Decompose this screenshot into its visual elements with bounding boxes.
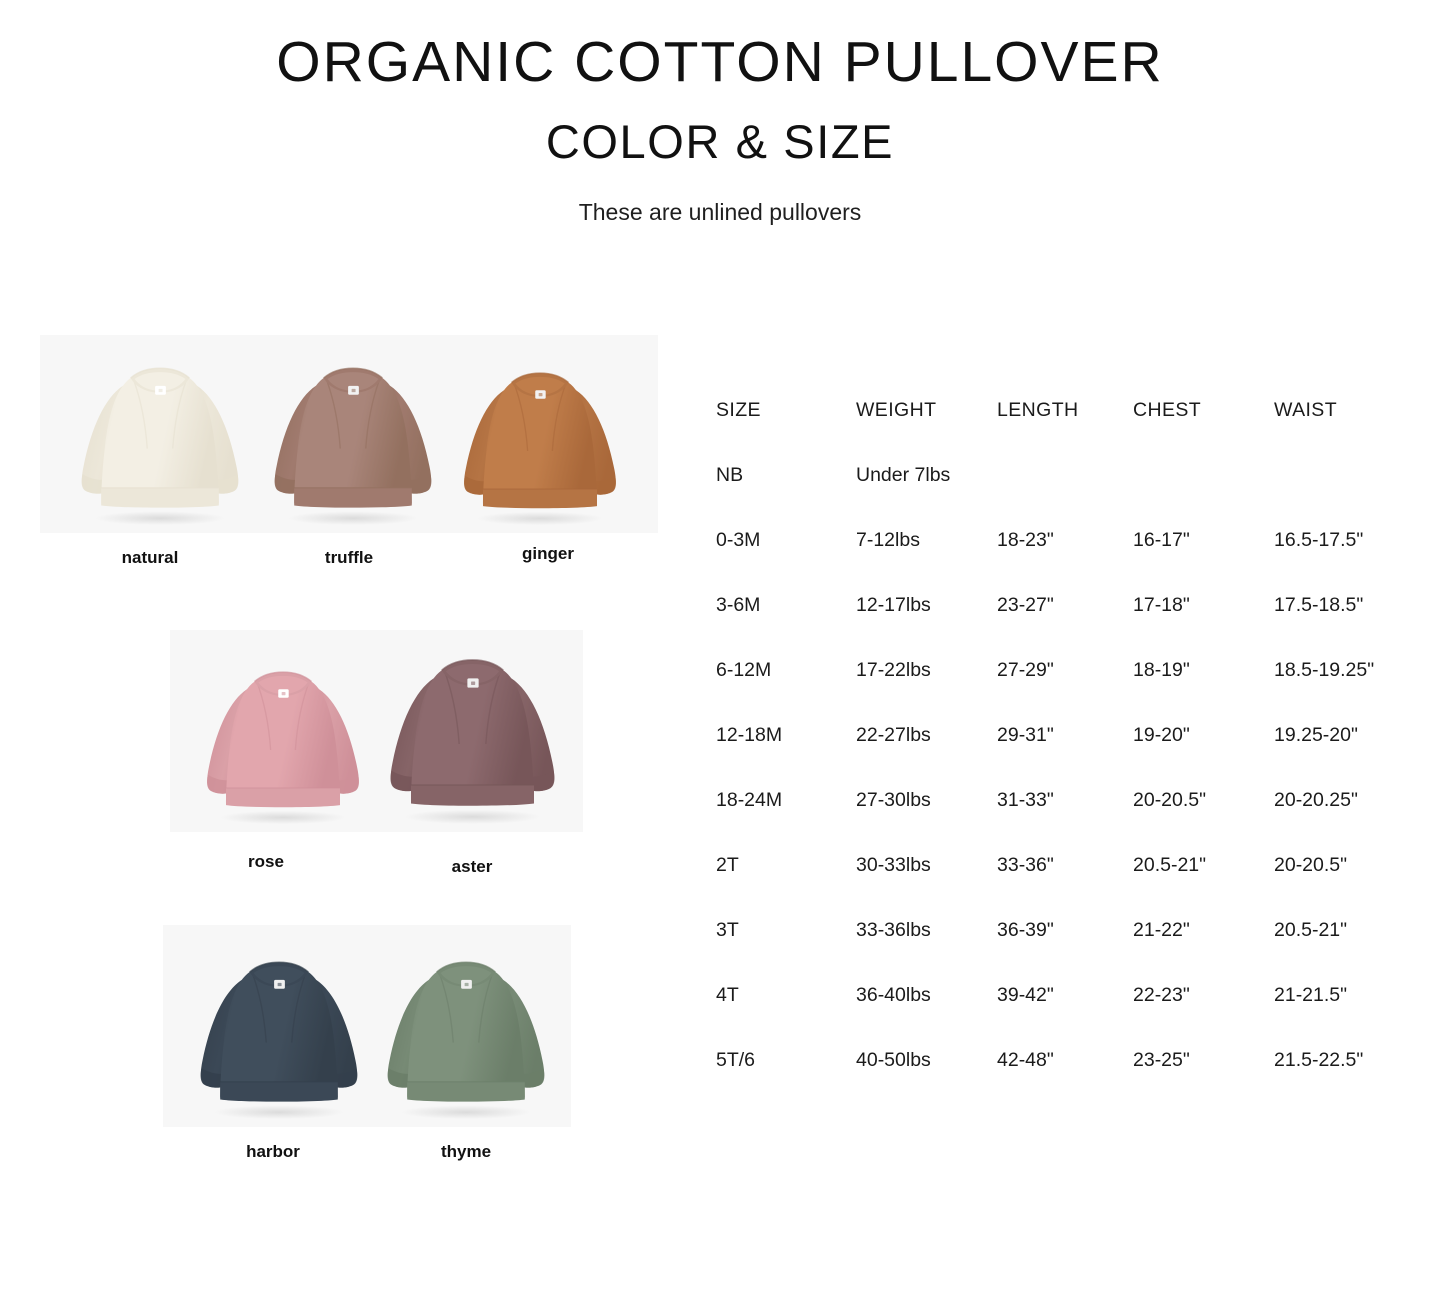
cell-chest: 16-17"	[1133, 508, 1274, 573]
table-row: NBUnder 7lbs	[716, 443, 1416, 508]
color-label-aster: aster	[384, 858, 560, 875]
sweater-illustration-natural	[62, 329, 258, 527]
cell-length: 23-27"	[997, 573, 1133, 638]
cell-length: 18-23"	[997, 508, 1133, 573]
cell-waist: 21-21.5"	[1274, 963, 1416, 1028]
cell-length: 31-33"	[997, 768, 1133, 833]
table-row: 0-3M7-12lbs18-23"16-17"16.5-17.5"	[716, 508, 1416, 573]
cell-chest: 19-20"	[1133, 703, 1274, 768]
cell-weight: 36-40lbs	[856, 963, 997, 1028]
garment-slot-natural[interactable]	[62, 329, 258, 527]
color-label-rose: rose	[178, 853, 354, 870]
garment-slot-rose[interactable]	[188, 624, 378, 826]
table-row: 18-24M27-30lbs31-33"20-20.5"20-20.25"	[716, 768, 1416, 833]
color-label-ginger: ginger	[460, 545, 636, 562]
cell-waist: 17.5-18.5"	[1274, 573, 1416, 638]
garment-slot-truffle[interactable]	[255, 329, 451, 527]
cell-chest: 21-22"	[1133, 898, 1274, 963]
cell-waist: 16.5-17.5"	[1274, 508, 1416, 573]
cell-length: 39-42"	[997, 963, 1133, 1028]
cell-chest: 22-23"	[1133, 963, 1274, 1028]
sweater-illustration-ginger	[445, 329, 635, 527]
cell-chest: 17-18"	[1133, 573, 1274, 638]
cell-weight: 12-17lbs	[856, 573, 997, 638]
cell-length: 36-39"	[997, 898, 1133, 963]
cell-chest: 23-25"	[1133, 1028, 1274, 1093]
table-row: 12-18M22-27lbs29-31"19-20"19.25-20"	[716, 703, 1416, 768]
cell-size: 3T	[716, 898, 856, 963]
column-header-weight: WEIGHT	[856, 378, 997, 443]
cell-weight: 7-12lbs	[856, 508, 997, 573]
cell-weight: 22-27lbs	[856, 703, 997, 768]
color-gallery: natural truffle ginger	[0, 0, 720, 1300]
cell-weight: 40-50lbs	[856, 1028, 997, 1093]
cell-chest: 18-19"	[1133, 638, 1274, 703]
column-header-length: LENGTH	[997, 378, 1133, 443]
sweater-illustration-harbor	[181, 919, 377, 1121]
garment-slot-harbor[interactable]	[181, 919, 377, 1121]
color-photo-panel-row-2	[170, 630, 583, 832]
cell-waist: 20-20.5"	[1274, 833, 1416, 898]
color-photo-panel-row-1	[40, 335, 658, 533]
cell-length: 33-36"	[997, 833, 1133, 898]
column-header-chest: CHEST	[1133, 378, 1274, 443]
sweater-illustration-thyme	[368, 919, 564, 1121]
cell-size: 18-24M	[716, 768, 856, 833]
cell-chest: 20.5-21"	[1133, 833, 1274, 898]
sweater-illustration-truffle	[255, 329, 451, 527]
cell-waist: 20-20.25"	[1274, 768, 1416, 833]
table-row: 5T/640-50lbs42-48"23-25"21.5-22.5"	[716, 1028, 1416, 1093]
sweater-illustration-rose	[188, 624, 378, 826]
color-label-harbor: harbor	[185, 1143, 361, 1160]
garment-slot-ginger[interactable]	[445, 329, 635, 527]
cell-size: NB	[716, 443, 856, 508]
sweater-illustration-aster	[370, 624, 575, 826]
color-label-natural: natural	[62, 549, 238, 566]
cell-waist: 20.5-21"	[1274, 898, 1416, 963]
cell-chest: 20-20.5"	[1133, 768, 1274, 833]
cell-size: 6-12M	[716, 638, 856, 703]
size-chart-body: NBUnder 7lbs0-3M7-12lbs18-23"16-17"16.5-…	[716, 443, 1416, 1093]
cell-length	[997, 443, 1133, 508]
cell-size: 2T	[716, 833, 856, 898]
cell-chest	[1133, 443, 1274, 508]
color-label-thyme: thyme	[378, 1143, 554, 1160]
cell-waist: 19.25-20"	[1274, 703, 1416, 768]
cell-weight: 27-30lbs	[856, 768, 997, 833]
table-row: 4T36-40lbs39-42"22-23"21-21.5"	[716, 963, 1416, 1028]
color-photo-panel-row-3	[163, 925, 571, 1127]
cell-size: 12-18M	[716, 703, 856, 768]
cell-weight: 17-22lbs	[856, 638, 997, 703]
cell-waist	[1274, 443, 1416, 508]
size-chart: SIZE WEIGHT LENGTH CHEST WAIST NBUnder 7…	[716, 378, 1416, 1093]
cell-weight: 30-33lbs	[856, 833, 997, 898]
cell-length: 27-29"	[997, 638, 1133, 703]
cell-size: 3-6M	[716, 573, 856, 638]
cell-size: 0-3M	[716, 508, 856, 573]
table-row: 3T33-36lbs36-39"21-22"20.5-21"	[716, 898, 1416, 963]
cell-length: 29-31"	[997, 703, 1133, 768]
cell-waist: 18.5-19.25"	[1274, 638, 1416, 703]
cell-weight: Under 7lbs	[856, 443, 997, 508]
cell-length: 42-48"	[997, 1028, 1133, 1093]
garment-slot-thyme[interactable]	[368, 919, 564, 1121]
table-row: 2T30-33lbs33-36"20.5-21"20-20.5"	[716, 833, 1416, 898]
cell-weight: 33-36lbs	[856, 898, 997, 963]
table-row: 6-12M17-22lbs27-29"18-19"18.5-19.25"	[716, 638, 1416, 703]
cell-size: 4T	[716, 963, 856, 1028]
column-header-size: SIZE	[716, 378, 856, 443]
column-header-waist: WAIST	[1274, 378, 1416, 443]
size-chart-table: SIZE WEIGHT LENGTH CHEST WAIST NBUnder 7…	[716, 378, 1416, 1093]
garment-slot-aster[interactable]	[370, 624, 575, 826]
cell-waist: 21.5-22.5"	[1274, 1028, 1416, 1093]
color-label-truffle: truffle	[261, 549, 437, 566]
table-row: 3-6M12-17lbs23-27"17-18"17.5-18.5"	[716, 573, 1416, 638]
cell-size: 5T/6	[716, 1028, 856, 1093]
table-header-row: SIZE WEIGHT LENGTH CHEST WAIST	[716, 378, 1416, 443]
